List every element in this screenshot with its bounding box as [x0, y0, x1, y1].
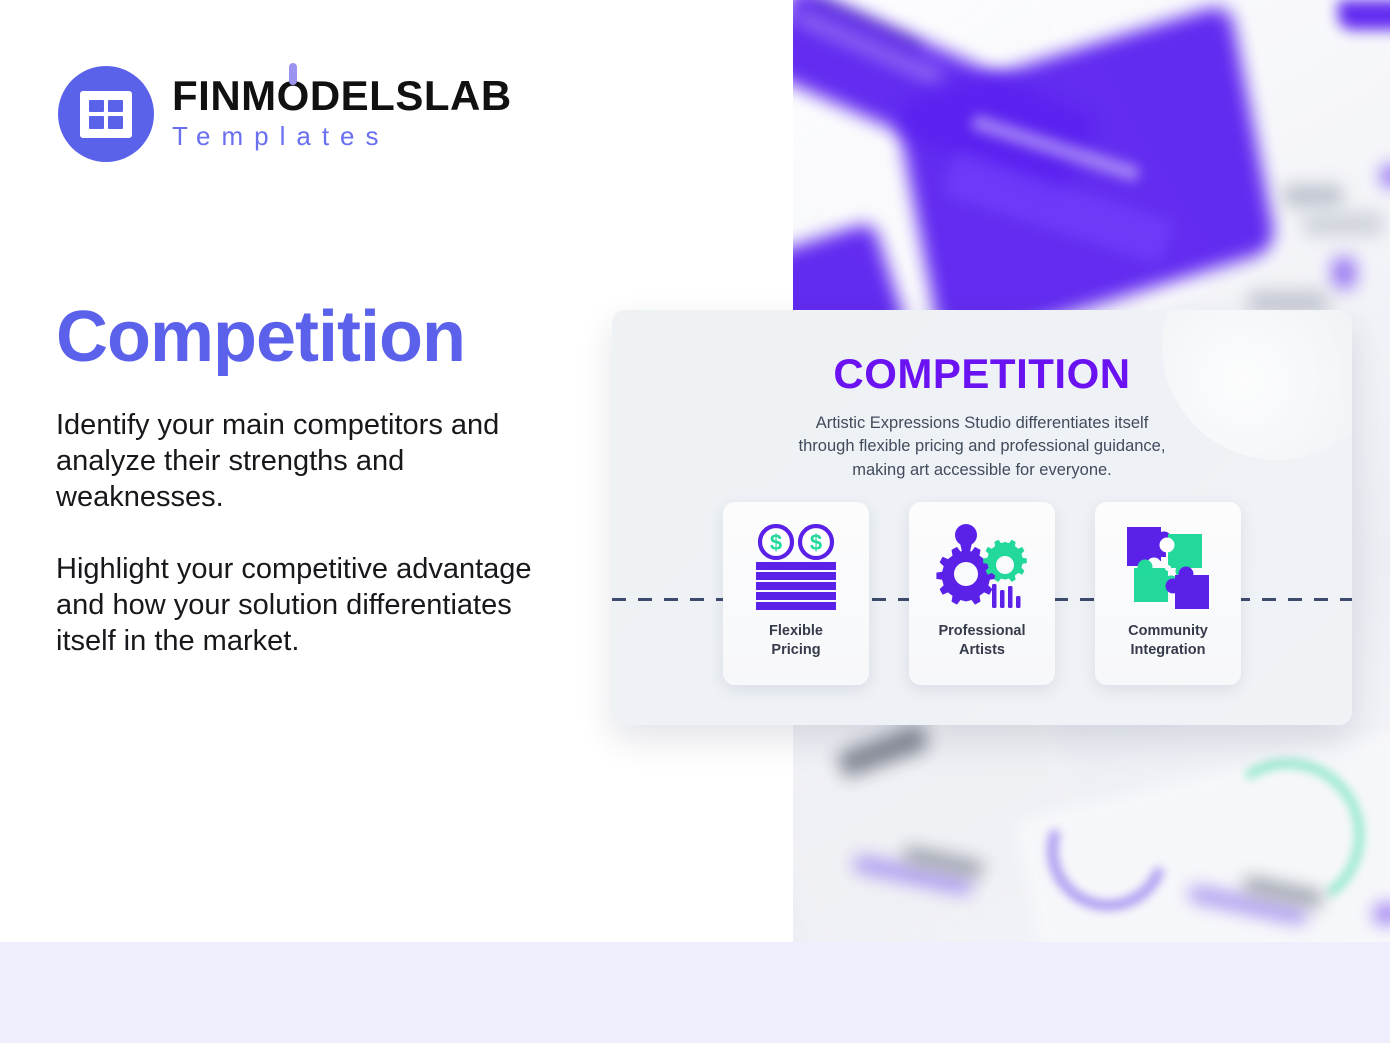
intro-paragraph-2: Highlight your competitive advantage and… — [56, 552, 566, 660]
page-title: Competition — [56, 300, 465, 376]
bottom-strip — [0, 942, 1390, 1043]
brand-wordmark: FINMODELSLAB Templates — [172, 75, 512, 152]
svg-text:$: $ — [810, 530, 822, 555]
feature-tiles: $ $ — [612, 502, 1352, 685]
competition-slide-card[interactable]: COMPETITION Artistic Expressions Studio … — [612, 310, 1352, 725]
tile-label-professional-artists: Professional Artists — [938, 622, 1025, 659]
tile-label-community-integration: Community Integration — [1128, 622, 1208, 659]
bg-purple-top-right — [1338, 0, 1390, 30]
tile-label-line2: Integration — [1131, 642, 1206, 658]
power-button-o-icon: O — [277, 75, 310, 118]
tile-community-integration[interactable]: Community Integration — [1095, 502, 1241, 685]
brand-logo[interactable]: FINMODELSLAB Templates — [58, 66, 512, 162]
intro-paragraph-1: Identify your main competitors and analy… — [56, 408, 566, 516]
bg-chip-2 — [1303, 212, 1383, 236]
tile-flexible-pricing[interactable]: $ $ — [723, 502, 869, 685]
grid-window-icon-inner — [80, 91, 132, 138]
bg-chip-1 — [1283, 185, 1343, 207]
brand-name-part1: FINM — [172, 72, 277, 119]
tile-label-line1: Professional — [938, 623, 1025, 639]
slide-page: FINMODELSLAB Templates Competition Ident… — [0, 0, 1390, 1043]
bg-dot-purple — [1381, 165, 1390, 187]
gears-lightbulb-chart-icon — [927, 518, 1037, 618]
slide-title: COMPETITION — [612, 350, 1352, 398]
puzzle-pieces-icon — [1113, 518, 1223, 618]
grid-window-icon — [58, 66, 154, 162]
brand-name-part2: DELSLAB — [310, 72, 512, 119]
tile-label-line1: Flexible — [769, 623, 823, 639]
brand-name: FINMODELSLAB — [172, 75, 512, 118]
bg-purple-bar-text — [794, 10, 944, 84]
brand-tagline: Templates — [172, 120, 512, 153]
tile-professional-artists[interactable]: Professional Artists — [909, 502, 1055, 685]
slide-subtitle: Artistic Expressions Studio differentiat… — [797, 412, 1167, 482]
tile-label-line1: Community — [1128, 623, 1208, 639]
tile-label-line2: Pricing — [771, 642, 820, 658]
power-stem-icon — [289, 63, 297, 85]
svg-text:$: $ — [770, 530, 782, 555]
tile-label-line2: Artists — [959, 642, 1005, 658]
tile-label-flexible-pricing: Flexible Pricing — [769, 622, 823, 659]
bg-bar-purple-small — [1333, 258, 1355, 288]
bg-bottom-dot-purple — [1375, 905, 1390, 923]
dollar-coins-icon: $ $ — [741, 518, 851, 618]
